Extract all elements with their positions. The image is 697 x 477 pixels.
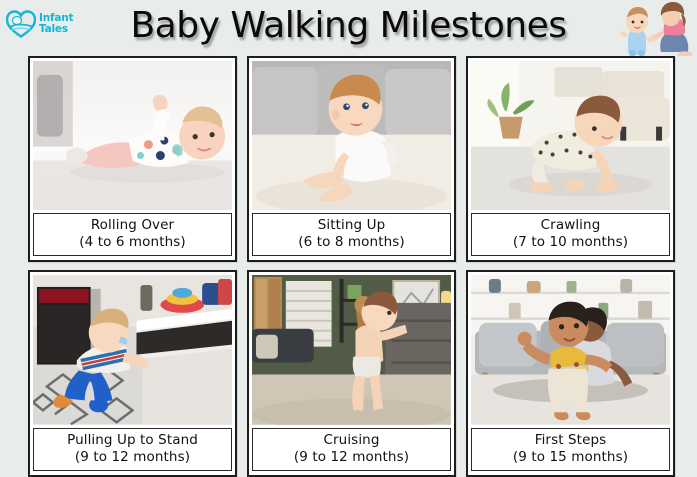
page-title: Baby Walking Milestones xyxy=(0,0,697,52)
infographic-page: Infant Tales Baby Walking Milestones xyxy=(0,0,697,461)
milestone-card-cruising[interactable]: Cruising (9 to 12 months) xyxy=(247,270,456,476)
milestone-age: (9 to 12 months) xyxy=(255,449,448,466)
milestone-caption: Cruising (9 to 12 months) xyxy=(252,428,451,471)
baby-lying-on-side-rolling-over-photo xyxy=(33,61,232,210)
milestone-title: Pulling Up to Stand xyxy=(36,432,229,449)
milestone-age: (4 to 6 months) xyxy=(36,234,229,251)
milestone-title: Crawling xyxy=(474,217,667,234)
milestone-card-pulling-up-to-stand[interactable]: Pulling Up to Stand (9 to 12 months) xyxy=(28,270,237,476)
milestone-caption: Crawling (7 to 10 months) xyxy=(471,213,670,256)
toddler-first-steps-with-mother-photo xyxy=(471,275,670,424)
brand-logo: Infant Tales xyxy=(6,4,84,44)
brand-name-line2: Tales xyxy=(39,24,73,35)
milestone-card-crawling[interactable]: Crawling (7 to 10 months) xyxy=(466,56,675,262)
milestone-age: (9 to 12 months) xyxy=(36,449,229,466)
milestone-title: Cruising xyxy=(255,432,448,449)
milestone-age: (7 to 10 months) xyxy=(474,234,667,251)
milestone-caption: Sitting Up (6 to 8 months) xyxy=(252,213,451,256)
header: Infant Tales Baby Walking Milestones xyxy=(0,0,697,56)
heart-hands-baby-icon xyxy=(6,10,36,38)
milestone-title: Sitting Up xyxy=(255,217,448,234)
milestone-grid: Rolling Over (4 to 6 months) xyxy=(0,52,697,461)
baby-cruising-along-armchair-photo xyxy=(252,275,451,424)
milestone-age: (6 to 8 months) xyxy=(255,234,448,251)
milestone-card-sitting-up[interactable]: Sitting Up (6 to 8 months) xyxy=(247,56,456,262)
milestone-caption: Pulling Up to Stand (9 to 12 months) xyxy=(33,428,232,471)
baby-sitting-up-on-bed-photo xyxy=(252,61,451,210)
milestone-caption: Rolling Over (4 to 6 months) xyxy=(33,213,232,256)
brand-name: Infant Tales xyxy=(39,13,73,34)
milestone-age: (9 to 15 months) xyxy=(474,449,667,466)
milestone-caption: First Steps (9 to 15 months) xyxy=(471,428,670,471)
baby-crawling-on-floor-photo xyxy=(471,61,670,210)
milestone-card-first-steps[interactable]: First Steps (9 to 15 months) xyxy=(466,270,675,476)
mother-helping-baby-walk-illustration xyxy=(617,0,695,56)
milestone-card-rolling-over[interactable]: Rolling Over (4 to 6 months) xyxy=(28,56,237,262)
baby-pulling-up-on-furniture-photo xyxy=(33,275,232,424)
milestone-title: First Steps xyxy=(474,432,667,449)
milestone-title: Rolling Over xyxy=(36,217,229,234)
